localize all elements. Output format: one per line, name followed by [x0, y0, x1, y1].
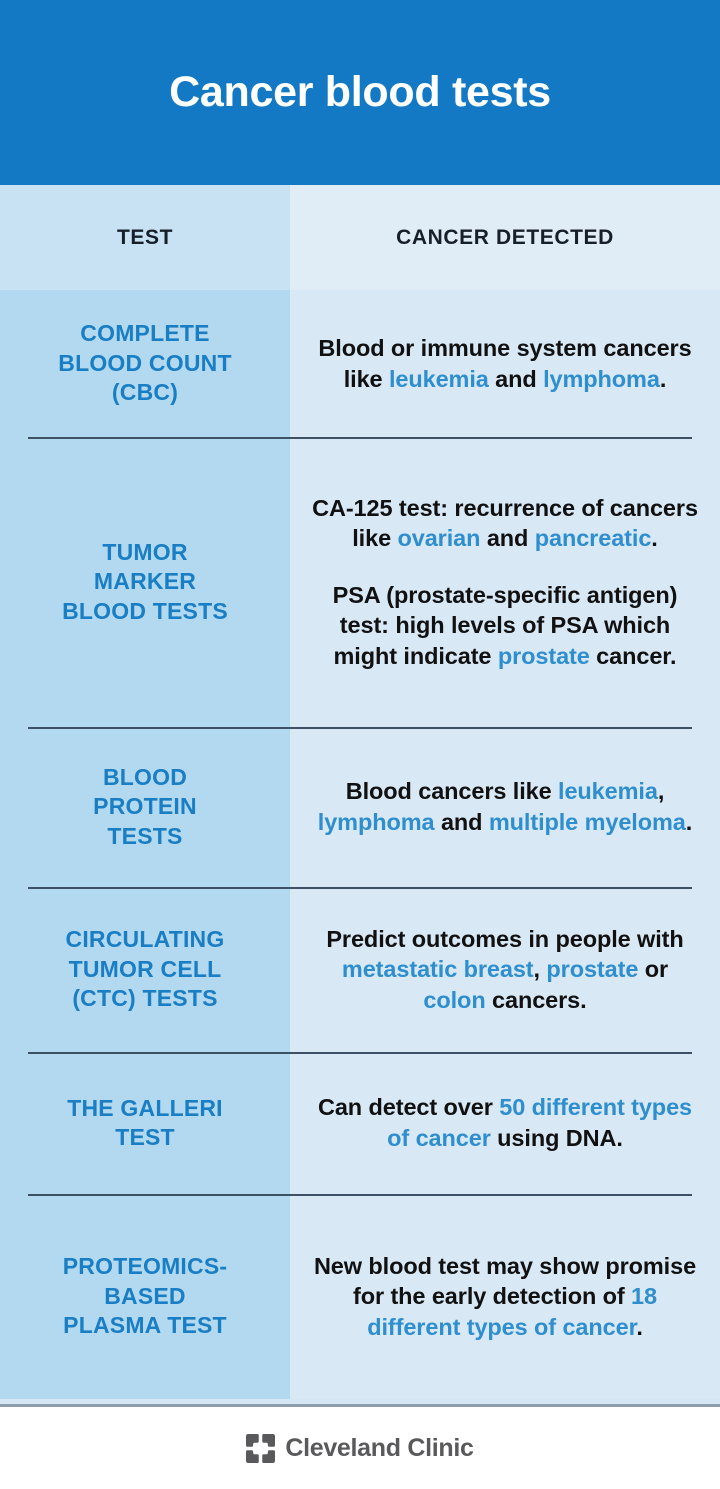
- cancer-detected-paragraph: CA-125 test: recurrence of cancers like …: [308, 493, 702, 554]
- cancer-detected-paragraph: New blood test may show promise for the …: [308, 1251, 702, 1343]
- cancer-type-link[interactable]: leukemia: [389, 366, 489, 392]
- column-header-test: TEST: [117, 226, 173, 250]
- column-header-cancer-detected: CANCER DETECTED: [396, 226, 614, 250]
- test-name-label: COMPLETEBLOOD COUNT(CBC): [58, 319, 231, 407]
- test-name-label: THE GALLERITEST: [67, 1094, 223, 1153]
- cancer-type-link[interactable]: lymphoma: [543, 366, 660, 392]
- test-name-cell: CIRCULATINGTUMOR CELL(CTC) TESTS: [0, 887, 290, 1052]
- cancer-detected-paragraph: Can detect over 50 different types of ca…: [308, 1092, 702, 1153]
- test-name-cell: THE GALLERITEST: [0, 1052, 290, 1194]
- table-row: PROTEOMICS-BASEDPLASMA TEST New blood te…: [0, 1194, 720, 1399]
- column-header-detected-cell: CANCER DETECTED: [290, 185, 720, 290]
- cancer-type-link[interactable]: prostate: [546, 956, 638, 982]
- cancer-type-link[interactable]: leukemia: [558, 778, 658, 804]
- test-name-label: PROTEOMICS-BASEDPLASMA TEST: [63, 1252, 227, 1340]
- test-name-label: BLOODPROTEINTESTS: [93, 763, 197, 851]
- test-name-cell: COMPLETEBLOOD COUNT(CBC): [0, 290, 290, 437]
- table-row: THE GALLERITEST Can detect over 50 diffe…: [0, 1052, 720, 1194]
- cancer-type-link[interactable]: ovarian: [397, 525, 480, 551]
- brand-name: Cleveland Clinic: [285, 1434, 473, 1463]
- test-name-cell: BLOODPROTEINTESTS: [0, 727, 290, 887]
- cancer-type-link[interactable]: pancreatic: [535, 525, 652, 551]
- test-name-label: CIRCULATINGTUMOR CELL(CTC) TESTS: [66, 925, 225, 1013]
- cancer-detected-paragraph: Predict outcomes in people with metastat…: [308, 924, 702, 1016]
- test-name-cell: PROTEOMICS-BASEDPLASMA TEST: [0, 1194, 290, 1399]
- title-banner: Cancer blood tests: [0, 0, 720, 185]
- table-row: TUMORMARKERBLOOD TESTS CA-125 test: recu…: [0, 437, 720, 727]
- cancer-detected-cell: Blood cancers like leukemia, lymphoma an…: [290, 727, 720, 887]
- cancer-type-link[interactable]: multiple myeloma: [489, 809, 686, 835]
- cancer-type-link[interactable]: 50 different types of cancer: [387, 1094, 692, 1151]
- page-title: Cancer blood tests: [169, 69, 551, 116]
- test-name-cell: TUMORMARKERBLOOD TESTS: [0, 437, 290, 727]
- cancer-detected-cell: CA-125 test: recurrence of cancers like …: [290, 437, 720, 727]
- comparison-table: TEST CANCER DETECTED COMPLETEBLOOD COUNT…: [0, 185, 720, 1407]
- table-header-row: TEST CANCER DETECTED: [0, 185, 720, 290]
- table-row: COMPLETEBLOOD COUNT(CBC) Blood or immune…: [0, 290, 720, 437]
- cancer-type-link[interactable]: metastatic breast: [342, 956, 534, 982]
- cancer-type-link[interactable]: prostate: [498, 643, 590, 669]
- cancer-blood-tests-infographic: Cancer blood tests TEST CANCER DETECTED …: [0, 0, 720, 1489]
- cancer-type-link[interactable]: lymphoma: [318, 809, 435, 835]
- table-row: BLOODPROTEINTESTS Blood cancers like leu…: [0, 727, 720, 887]
- table-row: CIRCULATINGTUMOR CELL(CTC) TESTS Predict…: [0, 887, 720, 1052]
- cancer-detected-cell: Can detect over 50 different types of ca…: [290, 1052, 720, 1194]
- cancer-detected-paragraph: Blood or immune system cancers like leuk…: [308, 333, 702, 394]
- cancer-detected-cell: Blood or immune system cancers like leuk…: [290, 290, 720, 437]
- cancer-detected-cell: New blood test may show promise for the …: [290, 1194, 720, 1399]
- cancer-detected-paragraph: Blood cancers like leukemia, lymphoma an…: [308, 776, 702, 837]
- cancer-detected-paragraph: PSA (prostate-specific antigen) test: hi…: [308, 580, 702, 672]
- cancer-type-link[interactable]: colon: [423, 987, 485, 1013]
- footer: Cleveland Clinic: [0, 1407, 720, 1489]
- cleveland-clinic-logo-icon: [246, 1434, 275, 1463]
- column-header-test-cell: TEST: [0, 185, 290, 290]
- test-name-label: TUMORMARKERBLOOD TESTS: [62, 538, 228, 626]
- cancer-type-link[interactable]: 18 different types of cancer: [367, 1283, 657, 1340]
- cancer-detected-cell: Predict outcomes in people with metastat…: [290, 887, 720, 1052]
- brand-lockup: Cleveland Clinic: [246, 1434, 473, 1463]
